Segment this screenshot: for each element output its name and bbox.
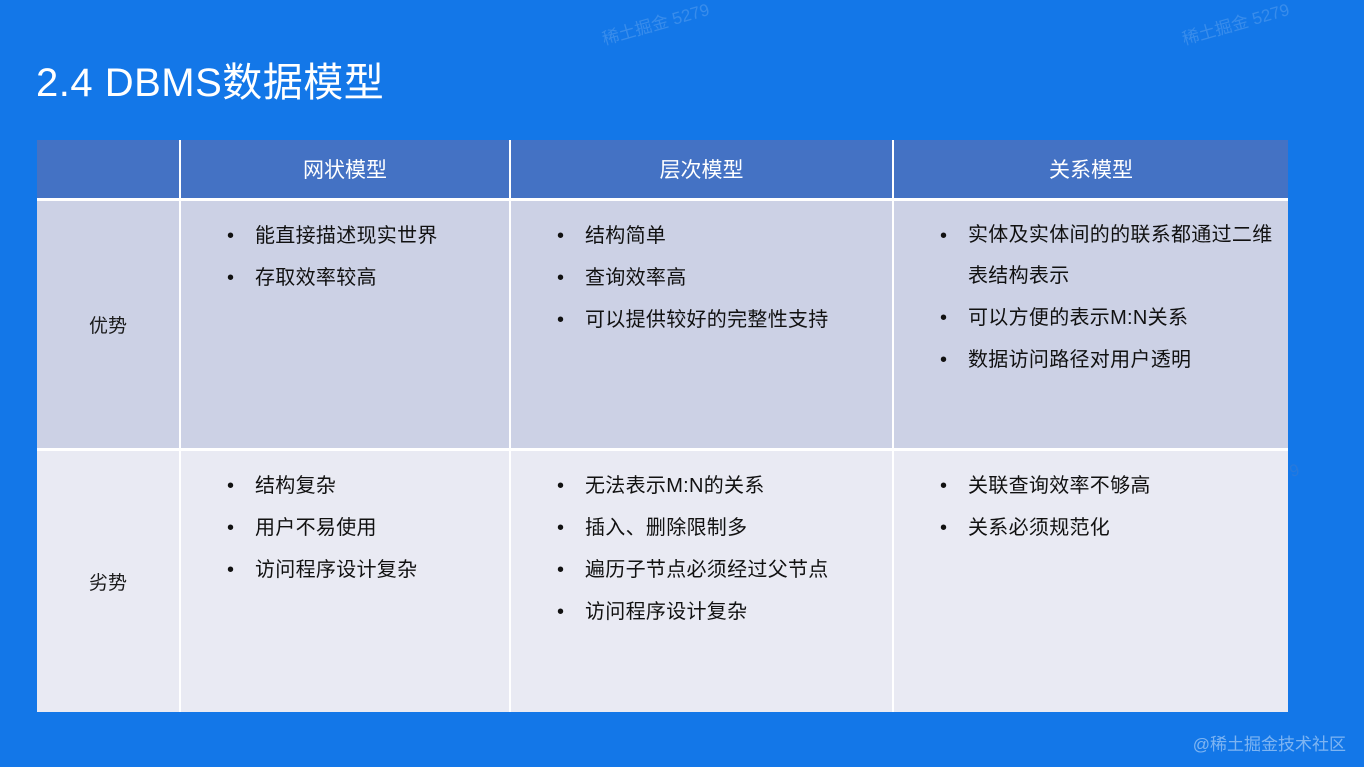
list-item: 存取效率较高 bbox=[227, 257, 499, 299]
list-item: 查询效率高 bbox=[557, 257, 882, 299]
slide-canvas: 稀土掘金 5279 稀土掘金 5279 稀土掘金 5279 稀土掘金 5279 … bbox=[0, 0, 1364, 767]
list-item: 访问程序设计复杂 bbox=[557, 591, 882, 633]
row-label-cons: 劣势 bbox=[37, 451, 181, 712]
cell-cons-relational: 关联查询效率不够高 关系必须规范化 bbox=[894, 451, 1288, 712]
cell-pros-network: 能直接描述现实世界 存取效率较高 bbox=[181, 201, 511, 451]
list-item: 结构复杂 bbox=[227, 465, 499, 507]
bullet-list: 能直接描述现实世界 存取效率较高 bbox=[181, 201, 509, 309]
bullet-list: 无法表示M:N的关系 插入、删除限制多 遍历子节点必须经过父节点 访问程序设计复… bbox=[511, 451, 892, 643]
bullet-list: 实体及实体间的的联系都通过二维表结构表示 可以方便的表示M:N关系 数据访问路径… bbox=[894, 201, 1288, 391]
table-header-row: 网状模型 层次模型 关系模型 bbox=[37, 140, 1288, 201]
bullet-list: 关联查询效率不够高 关系必须规范化 bbox=[894, 451, 1288, 559]
list-item: 插入、删除限制多 bbox=[557, 507, 882, 549]
header-relational-model: 关系模型 bbox=[894, 140, 1288, 201]
list-item: 访问程序设计复杂 bbox=[227, 549, 499, 591]
model-comparison-table: 网状模型 层次模型 关系模型 优势 能直接描述现实世界 存取效率较高 结构简单 … bbox=[37, 140, 1288, 712]
watermark: 稀土掘金 5279 bbox=[1179, 0, 1292, 50]
row-label-pros: 优势 bbox=[37, 201, 181, 451]
list-item: 可以提供较好的完整性支持 bbox=[557, 299, 882, 341]
header-hierarchical-model: 层次模型 bbox=[511, 140, 894, 201]
watermark: 稀土掘金 5279 bbox=[599, 0, 712, 50]
header-corner-cell bbox=[37, 140, 181, 201]
page-title: 2.4 DBMS数据模型 bbox=[36, 57, 384, 109]
list-item: 用户不易使用 bbox=[227, 507, 499, 549]
list-item: 无法表示M:N的关系 bbox=[557, 465, 882, 507]
cell-cons-network: 结构复杂 用户不易使用 访问程序设计复杂 bbox=[181, 451, 511, 712]
list-item: 能直接描述现实世界 bbox=[227, 215, 499, 257]
cell-cons-hierarchical: 无法表示M:N的关系 插入、删除限制多 遍历子节点必须经过父节点 访问程序设计复… bbox=[511, 451, 894, 712]
cell-pros-hierarchical: 结构简单 查询效率高 可以提供较好的完整性支持 bbox=[511, 201, 894, 451]
list-item: 遍历子节点必须经过父节点 bbox=[557, 549, 882, 591]
cell-pros-relational: 实体及实体间的的联系都通过二维表结构表示 可以方便的表示M:N关系 数据访问路径… bbox=[894, 201, 1288, 451]
list-item: 结构简单 bbox=[557, 215, 882, 257]
bullet-list: 结构简单 查询效率高 可以提供较好的完整性支持 bbox=[511, 201, 892, 351]
bullet-list: 结构复杂 用户不易使用 访问程序设计复杂 bbox=[181, 451, 509, 601]
list-item: 关联查询效率不够高 bbox=[940, 465, 1278, 507]
corner-watermark: @稀土掘金技术社区 bbox=[1193, 730, 1346, 755]
list-item: 可以方便的表示M:N关系 bbox=[940, 297, 1278, 339]
table-row-pros: 优势 能直接描述现实世界 存取效率较高 结构简单 查询效率高 可以提供较好的完整… bbox=[37, 201, 1288, 451]
list-item: 实体及实体间的的联系都通过二维表结构表示 bbox=[940, 215, 1278, 297]
list-item: 关系必须规范化 bbox=[940, 507, 1278, 549]
list-item: 数据访问路径对用户透明 bbox=[940, 339, 1278, 381]
table-row-cons: 劣势 结构复杂 用户不易使用 访问程序设计复杂 无法表示M:N的关系 插入、删除… bbox=[37, 451, 1288, 712]
header-network-model: 网状模型 bbox=[181, 140, 511, 201]
